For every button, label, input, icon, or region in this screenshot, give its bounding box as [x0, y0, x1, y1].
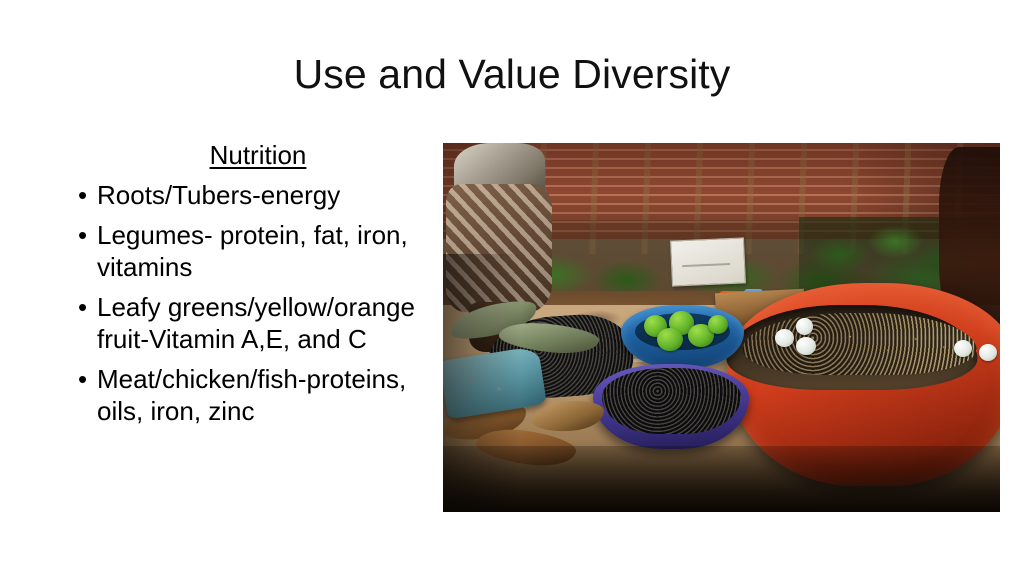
- foreground-shadow: [443, 446, 1000, 512]
- bullet-dot-icon: •: [78, 180, 87, 211]
- list-item-label: Legumes- protein, fat, iron, vitamins: [97, 220, 408, 281]
- bullet-dot-icon: •: [78, 292, 87, 323]
- purple-bowl-beans: [602, 368, 741, 434]
- slide-canvas: Use and Value Diversity Nutrition • Root…: [0, 0, 1024, 576]
- bullet-dot-icon: •: [78, 364, 87, 395]
- list-item-label: Meat/chicken/fish-proteins, oils, iron, …: [97, 364, 406, 425]
- content-text-column: Nutrition • Roots/Tubers-energy • Legume…: [62, 141, 442, 436]
- bullet-dot-icon: •: [78, 220, 87, 251]
- list-item: • Meat/chicken/fish-proteins, oils, iron…: [62, 364, 442, 427]
- list-item-label: Roots/Tubers-energy: [97, 180, 340, 210]
- list-item-label: Leafy greens/yellow/orange fruit-Vitamin…: [97, 292, 415, 353]
- slide-photograph: [443, 143, 1000, 512]
- section-heading-label: Nutrition: [210, 140, 307, 170]
- egg: [775, 329, 794, 347]
- bullet-list: • Roots/Tubers-energy • Legumes- protein…: [62, 180, 442, 427]
- page-title: Use and Value Diversity: [0, 52, 1024, 97]
- green-fruit: [708, 315, 728, 334]
- green-fruit: [657, 328, 683, 352]
- white-sign: [670, 237, 746, 286]
- section-heading: Nutrition: [62, 141, 442, 171]
- list-item: • Roots/Tubers-energy: [62, 180, 442, 211]
- list-item: • Leafy greens/yellow/orange fruit-Vitam…: [62, 292, 442, 355]
- list-item: • Legumes- protein, fat, iron, vitamins: [62, 220, 442, 283]
